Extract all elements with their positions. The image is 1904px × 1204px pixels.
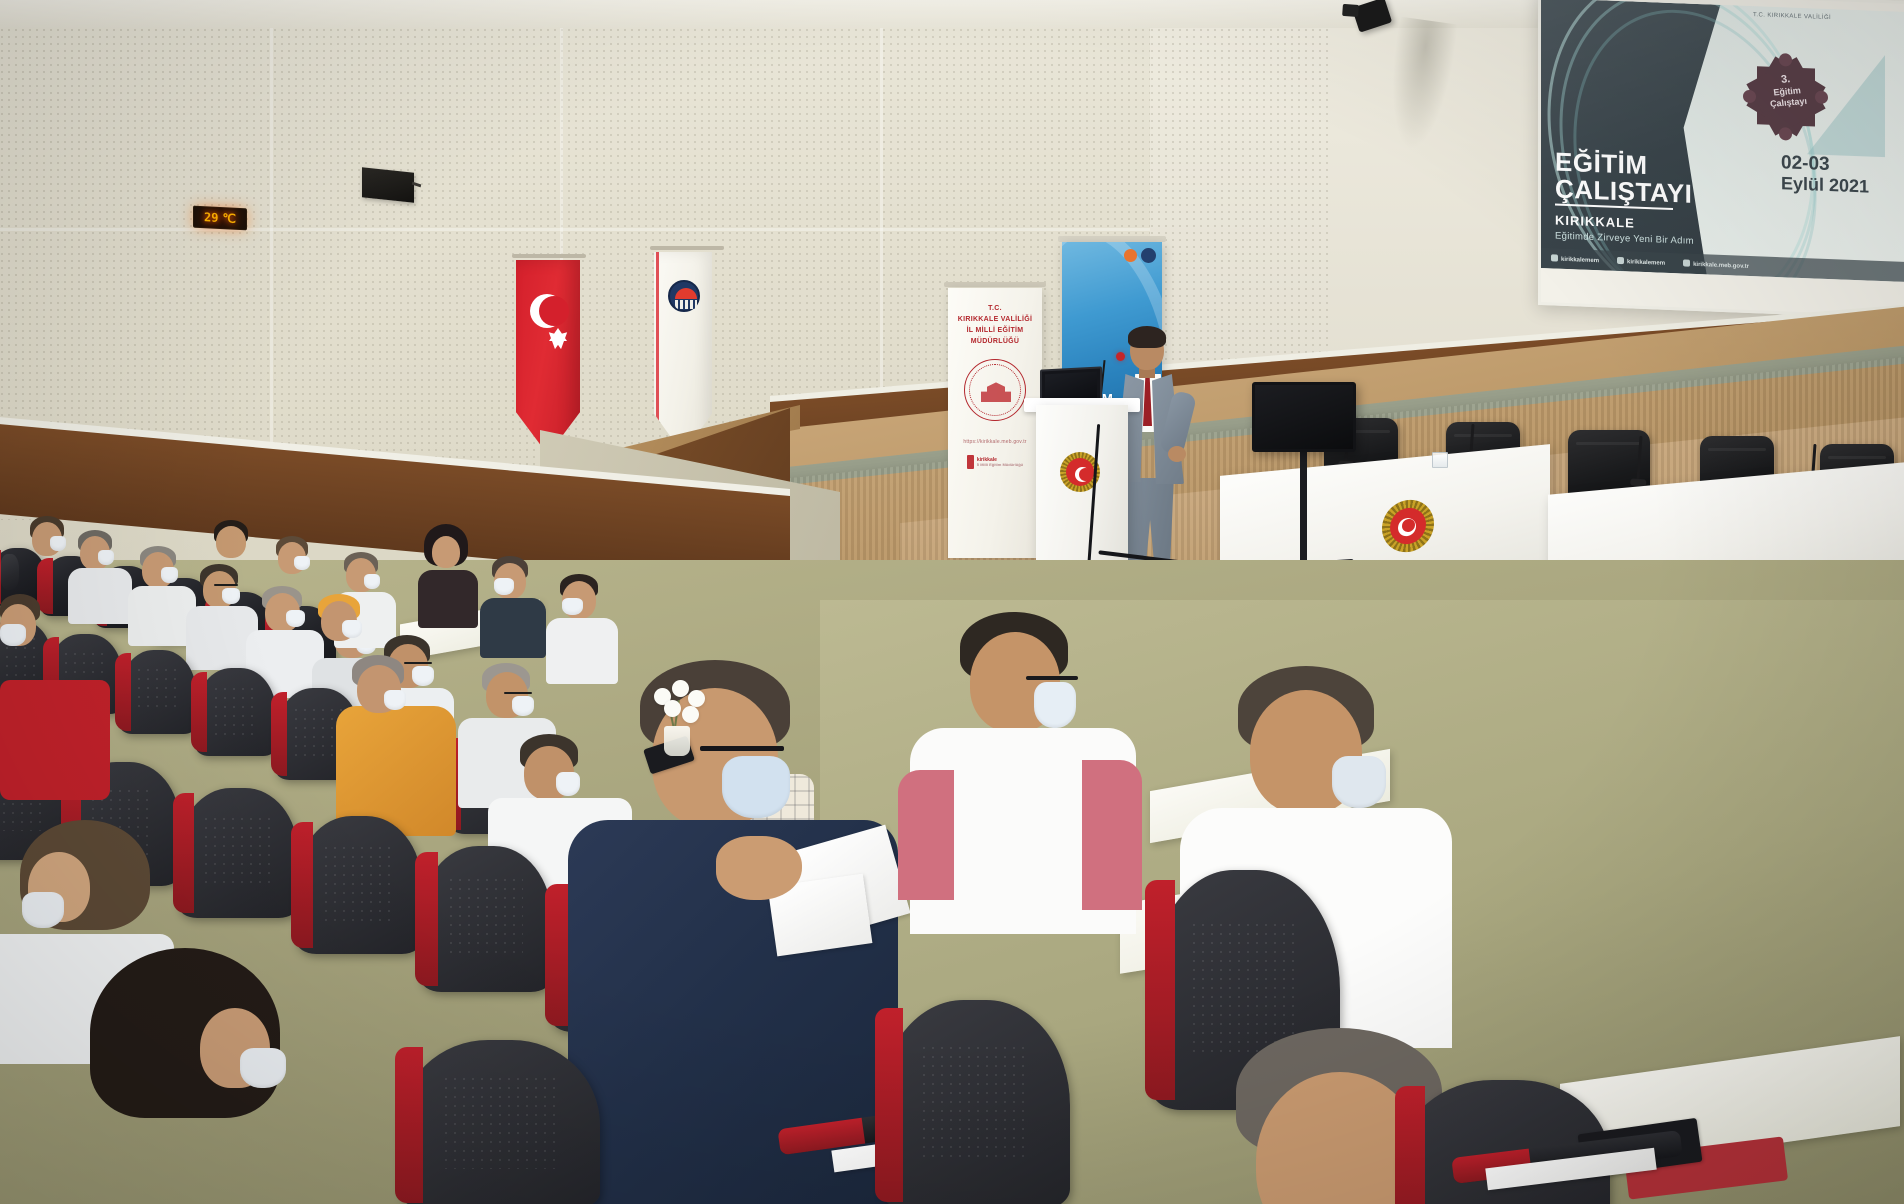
meb-banner-rod (944, 282, 1046, 287)
seat-texture (1192, 923, 1298, 1053)
crescent-icon (1398, 517, 1416, 537)
seat-edge (1395, 1086, 1425, 1204)
flower-bloom (682, 706, 699, 723)
face-mask (1332, 756, 1386, 808)
slide-title: EĞİTİM ÇALIŞTAYI (1555, 149, 1673, 211)
rosette-dot (1743, 90, 1756, 103)
face-mask (722, 756, 790, 818)
meb-footer-text: kirikkale İl Milli Eğitim Müdürlüğü (977, 457, 1023, 468)
seat (880, 1000, 1070, 1204)
meb-seal-icon (964, 359, 1026, 421)
meb-line-2: KIRIKKALE VALİLİĞİ (958, 315, 1033, 326)
torso (480, 598, 546, 658)
globe-icon (1683, 259, 1690, 266)
slide-title-line2: ÇALIŞTAYI (1555, 175, 1673, 210)
flower-bloom (688, 690, 705, 707)
meb-line-4: MÜDÜRLÜĞÜ (971, 337, 1020, 348)
sleeve (898, 770, 954, 900)
footer-text-3: kirikkale.meb.gov.tr (1693, 262, 1749, 270)
seat-edge (271, 692, 287, 777)
seat-edge (875, 1008, 903, 1201)
flag-stripe (656, 252, 659, 430)
seat-edge (291, 822, 313, 949)
wall-seam (0, 228, 1270, 231)
seat (400, 1040, 600, 1204)
glasses-icon (214, 584, 238, 586)
torso (68, 568, 132, 624)
temperature-value: 29 (204, 210, 218, 225)
speaker-hair (1128, 326, 1166, 348)
laptop-screen (1045, 372, 1097, 401)
face-mask (161, 567, 178, 583)
slide-top-text: T.C. KIRIKKALE VALİLİĞİ (1753, 12, 1831, 21)
rosette-dot (1779, 53, 1792, 66)
crescent-icon (1075, 467, 1090, 482)
face-mask (364, 574, 380, 589)
seat-edge (115, 653, 131, 730)
seat-texture (204, 817, 271, 887)
face-mask (384, 690, 406, 710)
face-mask (22, 892, 64, 928)
emblem-center (1066, 458, 1094, 486)
flag-rod (650, 246, 724, 250)
crescent-icon (530, 294, 564, 328)
glasses-icon (700, 746, 784, 751)
wall-speaker-icon (362, 167, 414, 202)
meb-vertical-banner: T.C. KIRIKKALE VALİLİĞİ İL MİLLİ EĞİTİM … (948, 288, 1042, 558)
face-mask (50, 536, 66, 551)
seat-edge (1145, 880, 1175, 1101)
flag-cloth (654, 252, 712, 454)
wall-seam (880, 0, 883, 450)
seat-texture (294, 708, 341, 758)
presentation-slide: T.C. KIRIKKALE VALİLİĞİ 3. Eğitim Çalışt… (1541, 0, 1904, 282)
face-mask (286, 610, 305, 627)
face-mask (98, 550, 114, 565)
face-mask (0, 624, 26, 646)
hand-shape (716, 836, 802, 900)
torso (0, 680, 110, 800)
meb-mark-icon (967, 455, 974, 469)
face-mask (342, 620, 362, 638)
temperature-unit: ℃ (222, 211, 235, 226)
slide-badge-label: 3. Eğitim Çalıştayı (1753, 71, 1821, 110)
torso (546, 618, 618, 684)
meb-url: https://kirikkale.meb.gov.tr (963, 439, 1026, 445)
slide-city: KIRIKKALE (1555, 213, 1635, 231)
face-mask (556, 772, 580, 796)
face-mask (494, 578, 514, 595)
seat-sheen (0, 554, 19, 590)
star-icon (549, 328, 567, 341)
speaker-hand (1168, 446, 1186, 462)
banner-logos (1124, 248, 1156, 263)
seat-edge (395, 1047, 423, 1203)
seat (196, 668, 276, 756)
slide-footer-item: kirikkalemem (1617, 257, 1665, 267)
seat-texture (214, 687, 259, 735)
presentation-monitor (1252, 382, 1356, 452)
flag-rod (512, 254, 586, 258)
seat-texture (449, 878, 523, 957)
sleeve (1082, 760, 1142, 910)
flower-bloom (664, 700, 681, 717)
flower-vase (664, 726, 690, 756)
face-mask (240, 1048, 286, 1088)
state-emblem-icon (1382, 497, 1434, 554)
face-mask (512, 696, 534, 716)
head (432, 536, 460, 568)
slide-date: 02-03 Eylül 2021 (1781, 153, 1869, 196)
head (216, 526, 246, 558)
seat-edge (415, 852, 438, 986)
seat-texture (137, 668, 180, 713)
meb-footer-logo: kirikkale İl Milli Eğitim Müdürlüğü (967, 455, 1023, 469)
seat-edge (173, 793, 194, 913)
meb-line-1: T.C. (988, 304, 1002, 315)
footer-text-1: kirikkalemem (1561, 257, 1599, 264)
slide-date-line2: Eylül 2021 (1781, 174, 1869, 197)
led-temperature-display: 29 ℃ (193, 206, 247, 231)
seat-texture (922, 1046, 1028, 1159)
water-glass (1432, 452, 1448, 468)
turkish-flag-pennant (516, 260, 580, 455)
institution-flag-pennant (654, 252, 712, 454)
seat-texture (324, 846, 395, 921)
face-mask (412, 666, 434, 686)
footer-text-2: kirikkalemem (1627, 259, 1665, 266)
face-mask (294, 556, 310, 570)
facebook-icon (1551, 254, 1558, 261)
wall-seam (270, 0, 273, 470)
flag-cloth (516, 260, 580, 455)
meb-line-3: İL MİLLİ EĞİTİM (967, 326, 1024, 337)
seat (420, 846, 552, 992)
logo-icon (1141, 248, 1156, 263)
logo-icon (1124, 249, 1137, 262)
face-mask (1034, 682, 1076, 728)
torso (418, 570, 478, 628)
institution-emblem-icon (668, 280, 700, 312)
face-mask (222, 588, 240, 604)
face-mask (562, 598, 583, 615)
slide-footer-item: kirikkale.meb.gov.tr (1683, 259, 1749, 270)
rosette-dot (1779, 127, 1792, 140)
seat (178, 788, 298, 918)
projection-screen: T.C. KIRIKKALE VALİLİĞİ 3. Eğitim Çalışt… (1538, 0, 1904, 319)
auditorium-photo: 29 ℃ T.C. KIRIKKALE VALİLİĞİ (0, 0, 1904, 1204)
seat (120, 650, 196, 734)
slide-footer-item: kirikkalemem (1551, 254, 1599, 264)
meb-footer-sub: İl Milli Eğitim Müdürlüğü (977, 463, 1023, 468)
monitor-stand-pole (1300, 450, 1307, 568)
glasses-icon (1026, 676, 1078, 680)
seat-texture (444, 1077, 556, 1169)
seat (296, 816, 422, 954)
flower-bloom (672, 680, 689, 697)
twitter-icon (1617, 257, 1624, 264)
seat-edge (191, 672, 207, 753)
glasses-icon (504, 692, 532, 694)
glasses-icon (404, 662, 432, 664)
seat-edge (545, 884, 569, 1026)
